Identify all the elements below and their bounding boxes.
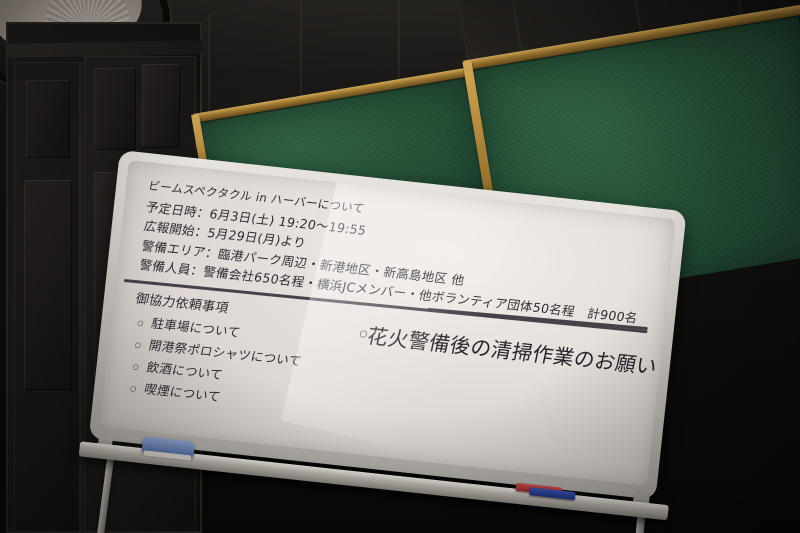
door-panel-lower-left: [24, 180, 72, 390]
highlight-text: 花火警備後の清掃作業のお願い: [365, 324, 660, 379]
whiteboard-surface[interactable]: ビームスペクタクル in ハーバーについて 予定日時：6月3日(土) 19:20…: [100, 160, 676, 486]
door-panel-upper-right2: [142, 64, 180, 148]
whiteboard-request-block: 御協力依頼事項 駐車場について 開港祭ポロシャツについて 飲酒について 喫煙につ…: [125, 288, 356, 422]
door-panel-upper-left: [26, 80, 70, 158]
door-panel-upper-right: [94, 68, 136, 150]
photo-scene: ビームスペクタクル in ハーバーについて 予定日時：6月3日(土) 19:20…: [0, 0, 800, 533]
whiteboard-unit[interactable]: ビームスペクタクル in ハーバーについて 予定日時：6月3日(土) 19:20…: [87, 150, 687, 520]
